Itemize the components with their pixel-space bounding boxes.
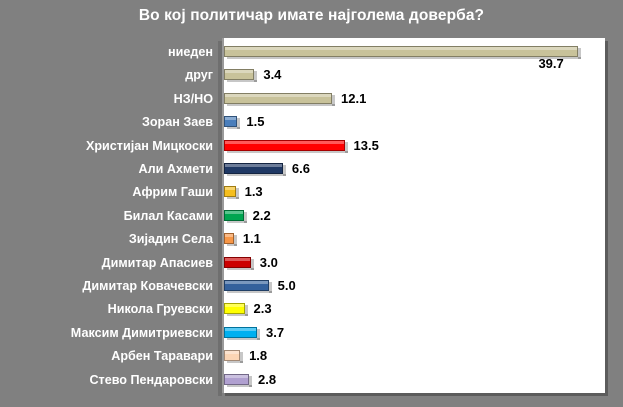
- category-label: Димитар Ковачевски: [0, 275, 213, 298]
- bar-bottom-face: [227, 291, 272, 293]
- bar-fill: [224, 46, 578, 57]
- category-label: друг: [0, 64, 213, 87]
- bar-bottom-face: [227, 361, 243, 363]
- bar-fill: [224, 140, 345, 151]
- value-label: 2.3: [254, 302, 272, 316]
- value-label: 2.8: [258, 373, 276, 387]
- bar: [224, 327, 257, 340]
- bar-fill: [224, 350, 240, 361]
- bar-row: Димитар Апасиев3.0: [0, 252, 623, 275]
- bar-bottom-face: [227, 221, 247, 223]
- bar: [224, 210, 244, 223]
- bar: [224, 374, 249, 387]
- value-label: 1.5: [246, 115, 264, 129]
- bar-row: Зијадин Села1.1: [0, 228, 623, 251]
- value-label: 1.8: [249, 349, 267, 363]
- bar: [224, 233, 234, 246]
- category-label: Зоран Заев: [0, 111, 213, 134]
- value-label: 1.3: [245, 185, 263, 199]
- bar-chart: Во кој политичар имате најголема доверба…: [0, 0, 623, 407]
- category-label: Никола Груевски: [0, 298, 213, 321]
- category-label: Африм Гаши: [0, 181, 213, 204]
- bar-row: друг3.4: [0, 64, 623, 87]
- value-label: 1.1: [243, 232, 261, 246]
- bar-row: Билал Касами2.2: [0, 205, 623, 228]
- bar-bottom-face: [227, 314, 248, 316]
- bar-bottom-face: [227, 57, 581, 59]
- bar-bottom-face: [227, 338, 260, 340]
- value-label: 3.0: [260, 256, 278, 270]
- category-label: Зијадин Села: [0, 228, 213, 251]
- bar-bottom-face: [227, 197, 239, 199]
- value-label: 13.5: [354, 139, 379, 153]
- value-label: 3.4: [263, 68, 281, 82]
- bar: [224, 257, 251, 270]
- bar-fill: [224, 163, 283, 174]
- bar-bottom-face: [227, 244, 237, 246]
- bar-fill: [224, 374, 249, 385]
- bar-bottom-face: [227, 80, 257, 82]
- bar-fill: [224, 116, 237, 127]
- bar-row: Али Ахмети6.6: [0, 158, 623, 181]
- bar-bottom-face: [227, 104, 335, 106]
- bar-bottom-face: [227, 127, 240, 129]
- bar: [224, 93, 332, 106]
- bar: [224, 69, 254, 82]
- chart-title: Во кој политичар имате најголема доверба…: [0, 6, 623, 26]
- category-label: Билал Касами: [0, 205, 213, 228]
- bar: [224, 280, 269, 293]
- bar-bottom-face: [227, 268, 254, 270]
- bar-row: Зоран Заев1.5: [0, 111, 623, 134]
- bar-row: Христијан Мицкоски13.5: [0, 135, 623, 158]
- bar-fill: [224, 210, 244, 221]
- category-label: Димитар Апасиев: [0, 252, 213, 275]
- value-label: 5.0: [278, 279, 296, 293]
- bar-fill: [224, 327, 257, 338]
- bar-row: Никола Груевски2.3: [0, 298, 623, 321]
- bar-fill: [224, 93, 332, 104]
- category-label: Максим Димитриевски: [0, 322, 213, 345]
- bar-row: Димитар Ковачевски5.0: [0, 275, 623, 298]
- bar-bottom-face: [227, 385, 252, 387]
- bar-fill: [224, 186, 236, 197]
- category-label: НЗ/НО: [0, 88, 213, 111]
- bar: [224, 303, 245, 316]
- bar-fill: [224, 257, 251, 268]
- bar-row: Стево Пендаровски2.8: [0, 369, 623, 392]
- bar-fill: [224, 303, 245, 314]
- category-label: ниеден: [0, 41, 213, 64]
- bar: [224, 163, 283, 176]
- value-label: 12.1: [341, 92, 366, 106]
- bar-fill: [224, 69, 254, 80]
- bar-row: Максим Димитриевски3.7: [0, 322, 623, 345]
- value-label: 2.2: [253, 209, 271, 223]
- bar: [224, 116, 237, 129]
- bar-row: НЗ/НО12.1: [0, 88, 623, 111]
- category-label: Арбен Таравари: [0, 345, 213, 368]
- bar-bottom-face: [227, 174, 286, 176]
- value-label: 6.6: [292, 162, 310, 176]
- category-label: Христијан Мицкоски: [0, 135, 213, 158]
- category-label: Али Ахмети: [0, 158, 213, 181]
- bar-row: Африм Гаши1.3: [0, 181, 623, 204]
- bar: [224, 46, 578, 59]
- category-label: Стево Пендаровски: [0, 369, 213, 392]
- bar-fill: [224, 233, 234, 244]
- bar-fill: [224, 280, 269, 291]
- bar: [224, 186, 236, 199]
- bar: [224, 350, 240, 363]
- bar-row: Арбен Таравари1.8: [0, 345, 623, 368]
- bar-row: ниеден39.7: [0, 41, 623, 64]
- bar-bottom-face: [227, 151, 348, 153]
- bar: [224, 140, 345, 153]
- value-label: 3.7: [266, 326, 284, 340]
